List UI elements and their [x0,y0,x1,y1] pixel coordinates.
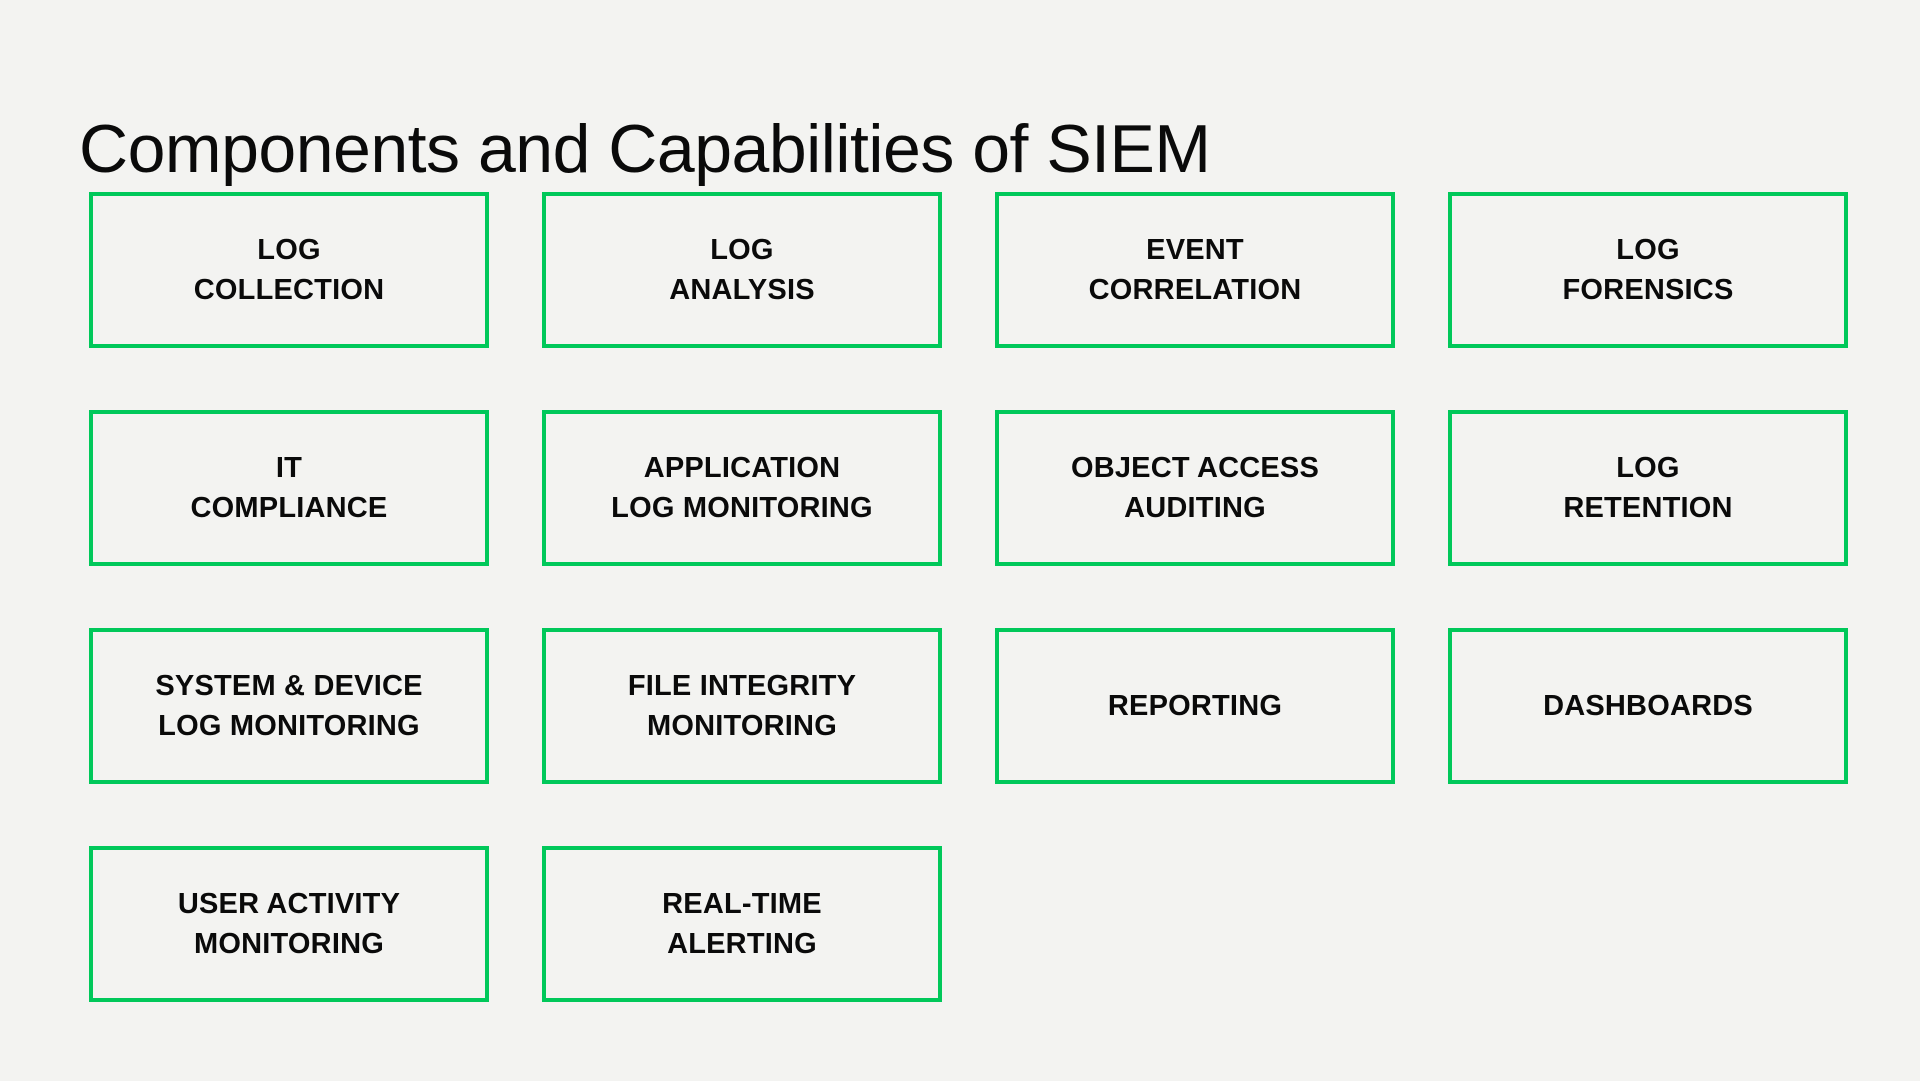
capability-label: SYSTEM & DEVICE LOG MONITORING [155,666,422,746]
capability-label: FILE INTEGRITY MONITORING [628,666,856,746]
capability-label: APPLICATION LOG MONITORING [611,448,873,528]
capability-box-reporting[interactable]: REPORTING [995,628,1395,784]
capability-box-system-device-log-monitoring[interactable]: SYSTEM & DEVICE LOG MONITORING [89,628,489,784]
capability-box-file-integrity-monitoring[interactable]: FILE INTEGRITY MONITORING [542,628,942,784]
capability-label: LOG FORENSICS [1563,230,1734,310]
capability-box-log-forensics[interactable]: LOG FORENSICS [1448,192,1848,348]
capability-box-object-access-auditing[interactable]: OBJECT ACCESS AUDITING [995,410,1395,566]
capability-box-user-activity-monitoring[interactable]: USER ACTIVITY MONITORING [89,846,489,1002]
capability-label: IT COMPLIANCE [191,448,388,528]
capability-label: LOG ANALYSIS [669,230,815,310]
capability-box-event-correlation[interactable]: EVENT CORRELATION [995,192,1395,348]
capability-grid: LOG COLLECTION LOG ANALYSIS EVENT CORREL… [89,192,1849,1002]
capability-box-log-collection[interactable]: LOG COLLECTION [89,192,489,348]
capability-label: LOG COLLECTION [194,230,385,310]
capability-label: REPORTING [1108,686,1282,726]
capability-grid-empty-slot-1 [995,846,1395,1002]
capability-box-it-compliance[interactable]: IT COMPLIANCE [89,410,489,566]
page-title: Components and Capabilities of SIEM [79,108,1211,190]
capability-box-dashboards[interactable]: DASHBOARDS [1448,628,1848,784]
capability-label: USER ACTIVITY MONITORING [178,884,400,964]
capability-label: REAL-TIME ALERTING [662,884,822,964]
capability-box-real-time-alerting[interactable]: REAL-TIME ALERTING [542,846,942,1002]
capability-label: DASHBOARDS [1543,686,1753,726]
capability-box-application-log-monitoring[interactable]: APPLICATION LOG MONITORING [542,410,942,566]
diagram-page: Components and Capabilities of SIEM LOG … [0,0,1920,1081]
capability-box-log-analysis[interactable]: LOG ANALYSIS [542,192,942,348]
capability-grid-empty-slot-2 [1448,846,1848,1002]
capability-label: EVENT CORRELATION [1089,230,1302,310]
capability-label: OBJECT ACCESS AUDITING [1071,448,1319,528]
capability-label: LOG RETENTION [1563,448,1732,528]
capability-box-log-retention[interactable]: LOG RETENTION [1448,410,1848,566]
